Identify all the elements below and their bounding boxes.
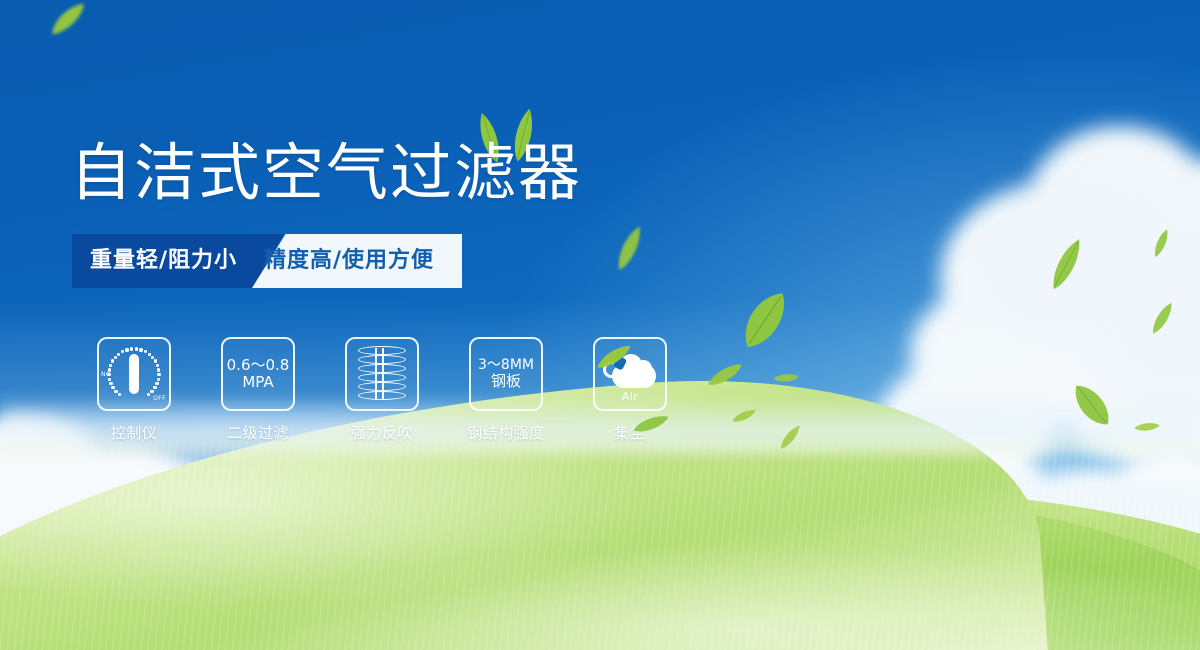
subtitle-left-text: 重量轻/阻力小 — [90, 234, 237, 288]
gauge-tick — [109, 364, 112, 367]
gauge-tick — [121, 350, 124, 353]
cloud-air-icon: Air — [602, 348, 658, 400]
feature-label: 二级过滤 — [227, 422, 289, 443]
coil-ring — [358, 355, 406, 364]
feature-label: 强力反吹 — [351, 422, 413, 443]
gauge-tick — [154, 359, 157, 362]
gauge-tick — [114, 390, 117, 393]
gauge-tick — [111, 386, 114, 389]
coil-ring — [358, 346, 406, 355]
gauge-tick — [156, 364, 159, 367]
feature-item-dust[interactable]: Air 集尘 — [568, 337, 692, 443]
pressure-text-icon: 0.6～0.8 MPA — [227, 357, 290, 391]
feature-item-backblow[interactable]: 强力反吹 — [320, 337, 444, 443]
gauge-tick — [157, 373, 160, 376]
gauge-label-no: NO — [101, 371, 111, 378]
feature-icon-line2: MPA — [227, 374, 290, 391]
coil-filter-icon — [358, 346, 406, 402]
feature-icon-line1: 3～8MM — [478, 358, 534, 374]
gauge-tick — [153, 386, 156, 389]
gauge-tick — [125, 348, 128, 351]
gauge-tick — [155, 382, 158, 385]
gauge-tick — [144, 350, 147, 353]
feature-item-steel[interactable]: 3～8MM 钢板 钢结构强度 — [444, 337, 568, 443]
gauge-tick — [150, 390, 153, 393]
steel-text-icon: 3～8MM 钢板 — [478, 358, 534, 390]
gauge-tick — [111, 359, 114, 362]
coil-ring — [358, 364, 406, 373]
gauge-tick — [117, 353, 120, 356]
gauge-tick — [139, 348, 142, 351]
feature-box: NO OFF — [97, 337, 171, 411]
cloud-bump — [635, 360, 652, 377]
feature-label: 钢结构强度 — [467, 422, 545, 443]
feature-label: 集尘 — [614, 422, 645, 443]
gauge-tick — [114, 356, 117, 359]
feature-item-two-stage[interactable]: 0.6～0.8 MPA 二级过滤 — [196, 337, 320, 443]
feature-label: 控制仪 — [111, 422, 158, 443]
coil-ring — [358, 382, 406, 391]
feature-box: 3～8MM 钢板 — [469, 337, 543, 411]
gauge-tick — [135, 347, 138, 350]
gauge-label-off: OFF — [153, 395, 166, 402]
gauge-tick — [108, 378, 111, 381]
gauge-tick — [157, 378, 160, 381]
gauge-icon: NO OFF — [103, 343, 165, 405]
banner-content: 自洁式空气过滤器 重量轻/阻力小 精度高/使用方便 NO OFF 控制仪 — [0, 0, 1200, 650]
cloud-air-label: Air — [602, 390, 658, 403]
feature-list: NO OFF 控制仪 0.6～0.8 MPA 二级过滤 — [72, 337, 692, 443]
coil-ring — [358, 373, 406, 382]
gauge-tick — [147, 393, 150, 396]
feature-item-controller[interactable]: NO OFF 控制仪 — [72, 337, 196, 443]
gauge-tick — [157, 368, 160, 371]
gauge-needle — [129, 354, 139, 394]
feature-box — [345, 337, 419, 411]
gauge-tick — [148, 353, 151, 356]
feature-icon-line1: 0.6～0.8 — [227, 357, 290, 374]
feature-box: 0.6～0.8 MPA — [221, 337, 295, 411]
subtitle-bar: 重量轻/阻力小 精度高/使用方便 — [72, 234, 462, 288]
page-title: 自洁式空气过滤器 — [70, 142, 582, 204]
feature-box: Air — [593, 337, 667, 411]
feature-icon-line2: 钢板 — [478, 373, 534, 390]
gauge-tick — [118, 393, 121, 396]
coil-ring — [358, 391, 406, 400]
gauge-tick — [130, 347, 133, 350]
subtitle-right-text: 精度高/使用方便 — [264, 234, 434, 288]
gauge-tick — [109, 382, 112, 385]
banner-root: 自洁式空气过滤器 重量轻/阻力小 精度高/使用方便 NO OFF 控制仪 — [0, 0, 1200, 650]
